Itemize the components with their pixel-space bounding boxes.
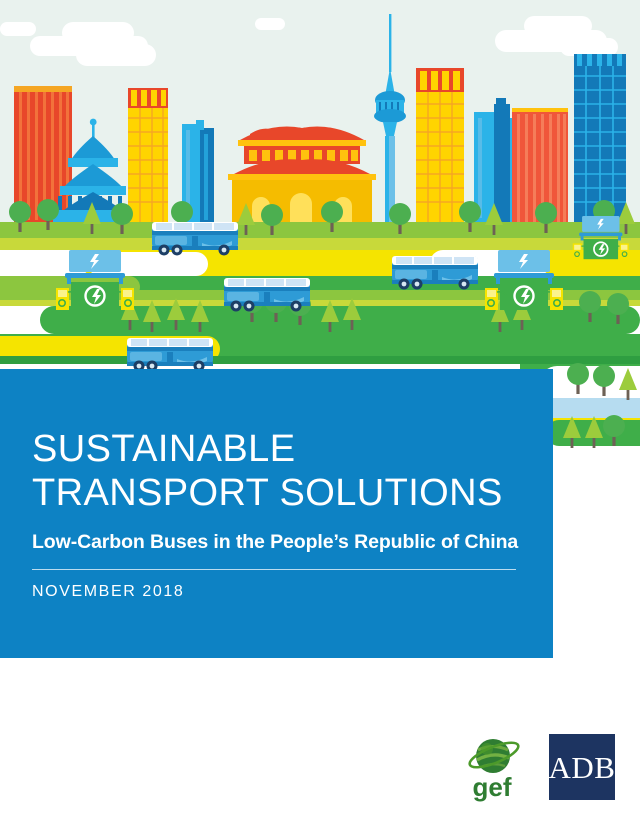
building-yellow-tower-left bbox=[128, 88, 168, 222]
gef-wordmark: gef bbox=[473, 772, 512, 802]
page-title-line1: SUSTAINABLE bbox=[32, 427, 529, 471]
title-panel: SUSTAINABLE TRANSPORT SOLUTIONS Low-Carb… bbox=[0, 369, 553, 658]
building-tiananmen-gate bbox=[228, 127, 376, 223]
adb-wordmark: ADB bbox=[549, 752, 616, 783]
page-title-line2: TRANSPORT SOLUTIONS bbox=[32, 471, 529, 515]
page-subtitle: Low-Carbon Buses in the People’s Republi… bbox=[32, 529, 529, 555]
gef-logo: gef bbox=[459, 730, 531, 802]
bus-lower-left bbox=[127, 338, 213, 372]
logo-row: gef ADB bbox=[0, 726, 640, 806]
building-yellow-tower-right bbox=[416, 68, 464, 222]
building-blue-skyscraper-right bbox=[574, 54, 626, 222]
adb-logo: ADB bbox=[549, 734, 615, 800]
publication-date: NOVEMBER 2018 bbox=[32, 583, 529, 601]
title-divider bbox=[32, 569, 516, 570]
gef-globe-icon bbox=[467, 738, 521, 773]
